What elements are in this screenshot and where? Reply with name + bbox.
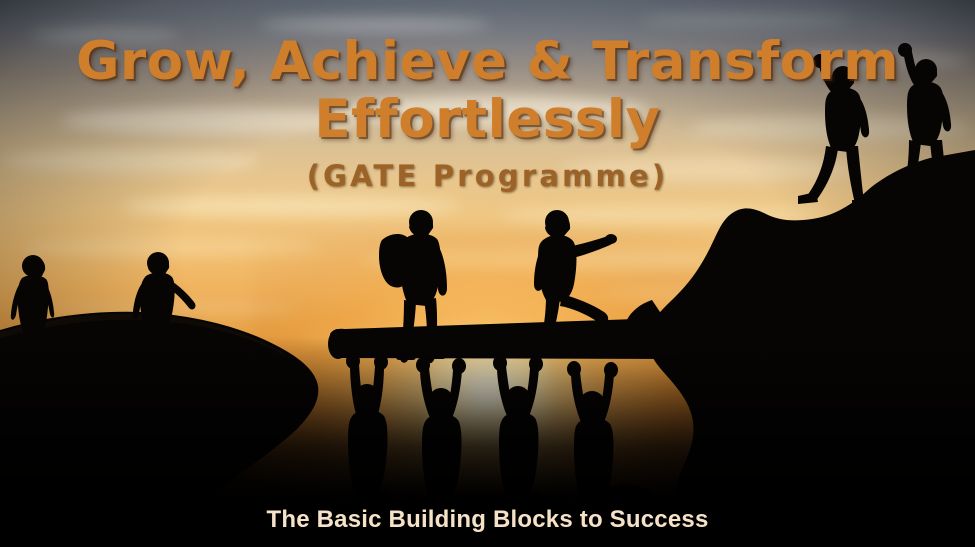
tagline: The Basic Building Blocks to Success (0, 506, 975, 534)
headline-block: Grow, Achieve & Transform Effortlessly (… (0, 33, 975, 193)
headline-line-2: Effortlessly (0, 91, 975, 149)
gate-programme-banner: Grow, Achieve & Transform Effortlessly (… (0, 0, 975, 547)
backpack (379, 234, 412, 287)
programme-name: (GATE Programme) (0, 159, 975, 193)
headline-line-1: Grow, Achieve & Transform (0, 33, 975, 91)
